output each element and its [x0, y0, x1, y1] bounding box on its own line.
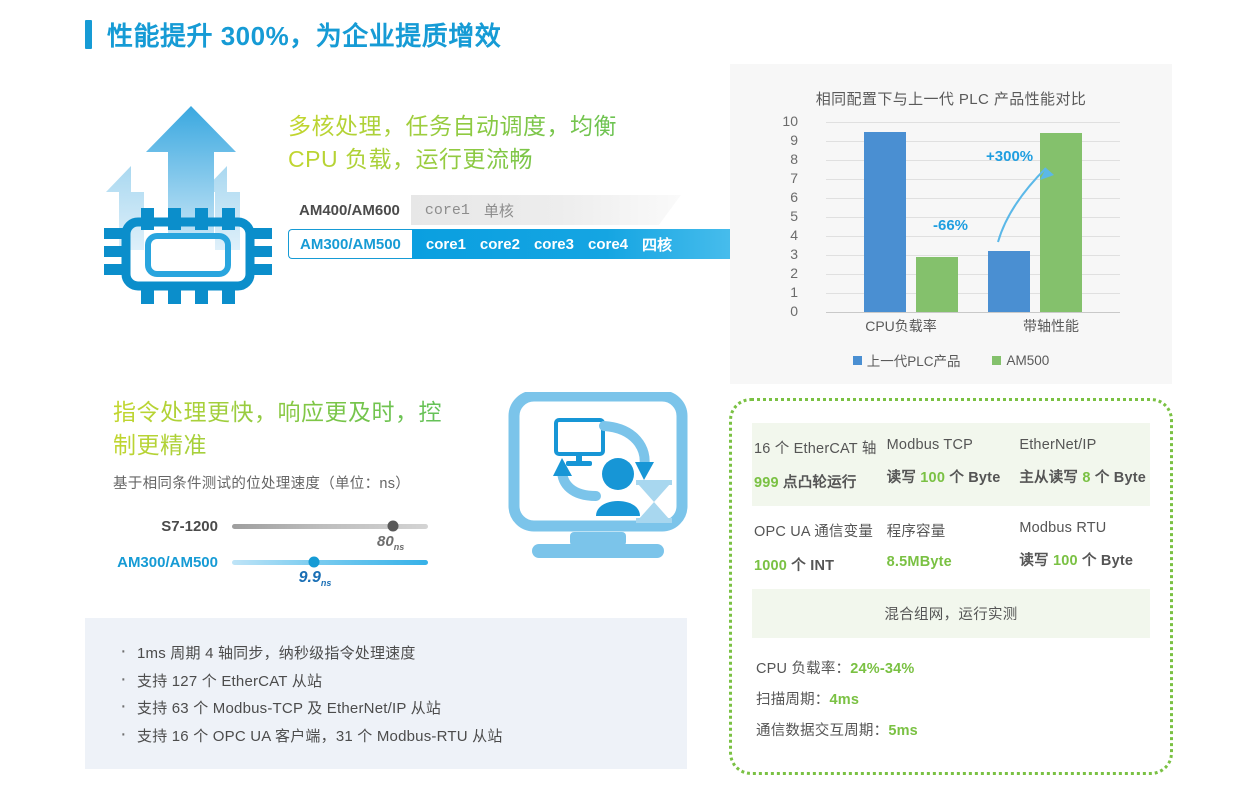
- speed-sliders: S7-1200 80ns AM300/AM500 9.9ns: [110, 508, 440, 580]
- core-label: core1: [425, 202, 470, 219]
- bar-am500-cpu: [916, 257, 958, 312]
- y-tick: 10: [758, 113, 798, 129]
- list-item: 支持 127 个 EtherCAT 从站: [117, 668, 687, 696]
- core-row-am400-am600: AM400/AM600 core1 单核: [288, 195, 766, 225]
- cpu-chip-illustration: [96, 96, 286, 308]
- y-tick: 4: [758, 227, 798, 243]
- metric-cpu-load: CPU 负载率：24%-34%: [756, 654, 1150, 685]
- x-label: 带轴性能: [976, 316, 1126, 336]
- spec-panel: 16 个 EtherCAT 轴 999 点凸轮运行 Modbus TCP 读写 …: [729, 398, 1173, 775]
- instruction-heading: 指令处理更快，响应更及时，控制更精准: [113, 396, 443, 462]
- core-label: core2: [480, 236, 520, 253]
- spec-banner: 混合组网，运行实测: [752, 589, 1150, 638]
- annotation-axis-increase: +300%: [986, 148, 1033, 165]
- slider-knob[interactable]: [387, 521, 398, 532]
- slider-am300-am500[interactable]: AM300/AM500 9.9ns: [110, 544, 440, 580]
- annotation-cpu-decrease: -66%: [933, 217, 968, 234]
- list-item: 1ms 周期 4 轴同步，纳秒级指令处理速度: [117, 640, 687, 668]
- bar-prev-cpu: [864, 132, 906, 313]
- slider-knob[interactable]: [309, 557, 320, 568]
- spec-row-1: 16 个 EtherCAT 轴 999 点凸轮运行 Modbus TCP 读写 …: [752, 423, 1150, 506]
- core-count-label: 四核: [642, 234, 672, 255]
- page-title: 性能提升 300%，为企业提质增效: [85, 16, 501, 53]
- core-row-am300-am500: AM300/AM500 core1 core2 core3 core4 四核: [288, 229, 766, 259]
- metric-comm-cycle: 通信数据交互周期：5ms: [756, 716, 1150, 747]
- legend-swatch-icon: [853, 356, 862, 365]
- core-label: core1: [426, 236, 466, 253]
- spec-value: 1000 个 INT: [754, 554, 885, 575]
- core-comparison: AM400/AM600 core1 单核 AM300/AM500 core1 c…: [288, 195, 766, 263]
- y-tick: 2: [758, 265, 798, 281]
- chart-plot-area: 10 9 8 7 6 5 4 3 2 1 0 -66% +300%: [800, 122, 1120, 312]
- page-title-text: 性能提升 300%，为企业提质增效: [107, 16, 501, 53]
- instruction-note: 基于相同条件测试的位处理速度（单位：ns）: [113, 472, 410, 493]
- core-row-tag: AM400/AM600: [288, 195, 411, 225]
- spec-value: 读写 100 个 Byte: [887, 466, 1018, 487]
- list-item: 支持 63 个 Modbus-TCP 及 EtherNet/IP 从站: [117, 695, 687, 723]
- spec-cell-ethernet-ip: EtherNet/IP 主从读写 8 个 Byte: [1017, 423, 1150, 506]
- y-tick: 6: [758, 189, 798, 205]
- legend-item-prev: 上一代PLC产品: [853, 350, 961, 370]
- spec-cell-modbus-rtu: Modbus RTU 读写 100 个 Byte: [1017, 506, 1150, 589]
- legend-swatch-icon: [992, 356, 1001, 365]
- chart-title: 相同配置下与上一代 PLC 产品性能对比: [730, 64, 1172, 109]
- slider-value: 9.9ns: [299, 569, 332, 588]
- y-tick: 9: [758, 132, 798, 148]
- chart-bars: [826, 122, 1120, 312]
- monitor-illustration: [504, 392, 697, 572]
- bar-prev-axis: [988, 251, 1030, 312]
- metric-scan-cycle: 扫描周期：4ms: [756, 685, 1150, 716]
- core-count-label: 单核: [484, 200, 514, 221]
- legend-label: AM500: [1006, 353, 1049, 368]
- performance-chart-panel: 相同配置下与上一代 PLC 产品性能对比 10 9 8 7 6 5 4 3 2 …: [730, 64, 1172, 384]
- legend-label: 上一代PLC产品: [867, 350, 961, 370]
- y-tick: 5: [758, 208, 798, 224]
- core-label: core3: [534, 236, 574, 253]
- legend-item-am500: AM500: [992, 353, 1049, 368]
- spec-key: Modbus RTU: [1019, 520, 1150, 536]
- y-tick: 3: [758, 246, 798, 262]
- spec-value: 主从读写 8 个 Byte: [1019, 466, 1150, 487]
- slide-root: 性能提升 300%，为企业提质增效: [0, 0, 1258, 812]
- spec-cell-modbus-tcp: Modbus TCP 读写 100 个 Byte: [885, 423, 1018, 506]
- slider-label: AM300/AM500: [110, 554, 232, 571]
- spec-key: OPC UA 通信变量: [754, 520, 885, 541]
- list-item: 支持 16 个 OPC UA 客户端，31 个 Modbus-RTU 从站: [117, 723, 687, 751]
- spec-cell-opcua: OPC UA 通信变量 1000 个 INT: [752, 506, 885, 589]
- y-tick: 8: [758, 151, 798, 167]
- slider-track[interactable]: 80ns: [232, 524, 428, 529]
- slider-label: S7-1200: [110, 518, 232, 535]
- spec-key: 程序容量: [887, 520, 1018, 541]
- slider-track[interactable]: 9.9ns: [232, 560, 428, 565]
- core-row-bar: core1 core2 core3 core4 四核: [412, 229, 766, 259]
- y-tick: 1: [758, 284, 798, 300]
- multicore-heading: 多核处理，任务自动调度，均衡 CPU 负载，运行更流畅: [288, 110, 668, 176]
- feature-bullet-list: 1ms 周期 4 轴同步，纳秒级指令处理速度 支持 127 个 EtherCAT…: [85, 618, 687, 769]
- y-tick: 7: [758, 170, 798, 186]
- core-row-tag: AM300/AM500: [288, 229, 412, 259]
- title-accent-bar: [85, 20, 92, 49]
- chart-legend: 上一代PLC产品 AM500: [730, 350, 1172, 370]
- bar-am500-axis: [1040, 133, 1082, 312]
- chart-x-labels: CPU负载率 带轴性能: [826, 316, 1126, 336]
- core-row-bar: core1 单核: [411, 195, 681, 225]
- spec-value: 读写 100 个 Byte: [1019, 549, 1150, 570]
- spec-metrics: CPU 负载率：24%-34% 扫描周期：4ms 通信数据交互周期：5ms: [752, 638, 1150, 747]
- spec-key: Modbus TCP: [887, 437, 1018, 453]
- spec-cell-program-capacity: 程序容量 8.5MByte: [885, 506, 1018, 589]
- spec-key: 16 个 EtherCAT 轴: [754, 437, 885, 458]
- core-label: core4: [588, 236, 628, 253]
- x-label: CPU负载率: [826, 316, 976, 336]
- slider-s7-1200[interactable]: S7-1200 80ns: [110, 508, 440, 544]
- spec-value: 8.5MByte: [887, 554, 1018, 570]
- spec-cell-ethercat: 16 个 EtherCAT 轴 999 点凸轮运行: [752, 423, 885, 506]
- spec-row-2: OPC UA 通信变量 1000 个 INT 程序容量 8.5MByte Mod…: [752, 506, 1150, 589]
- spec-key: EtherNet/IP: [1019, 437, 1150, 453]
- y-tick: 0: [758, 303, 798, 319]
- spec-value: 999 点凸轮运行: [754, 471, 885, 492]
